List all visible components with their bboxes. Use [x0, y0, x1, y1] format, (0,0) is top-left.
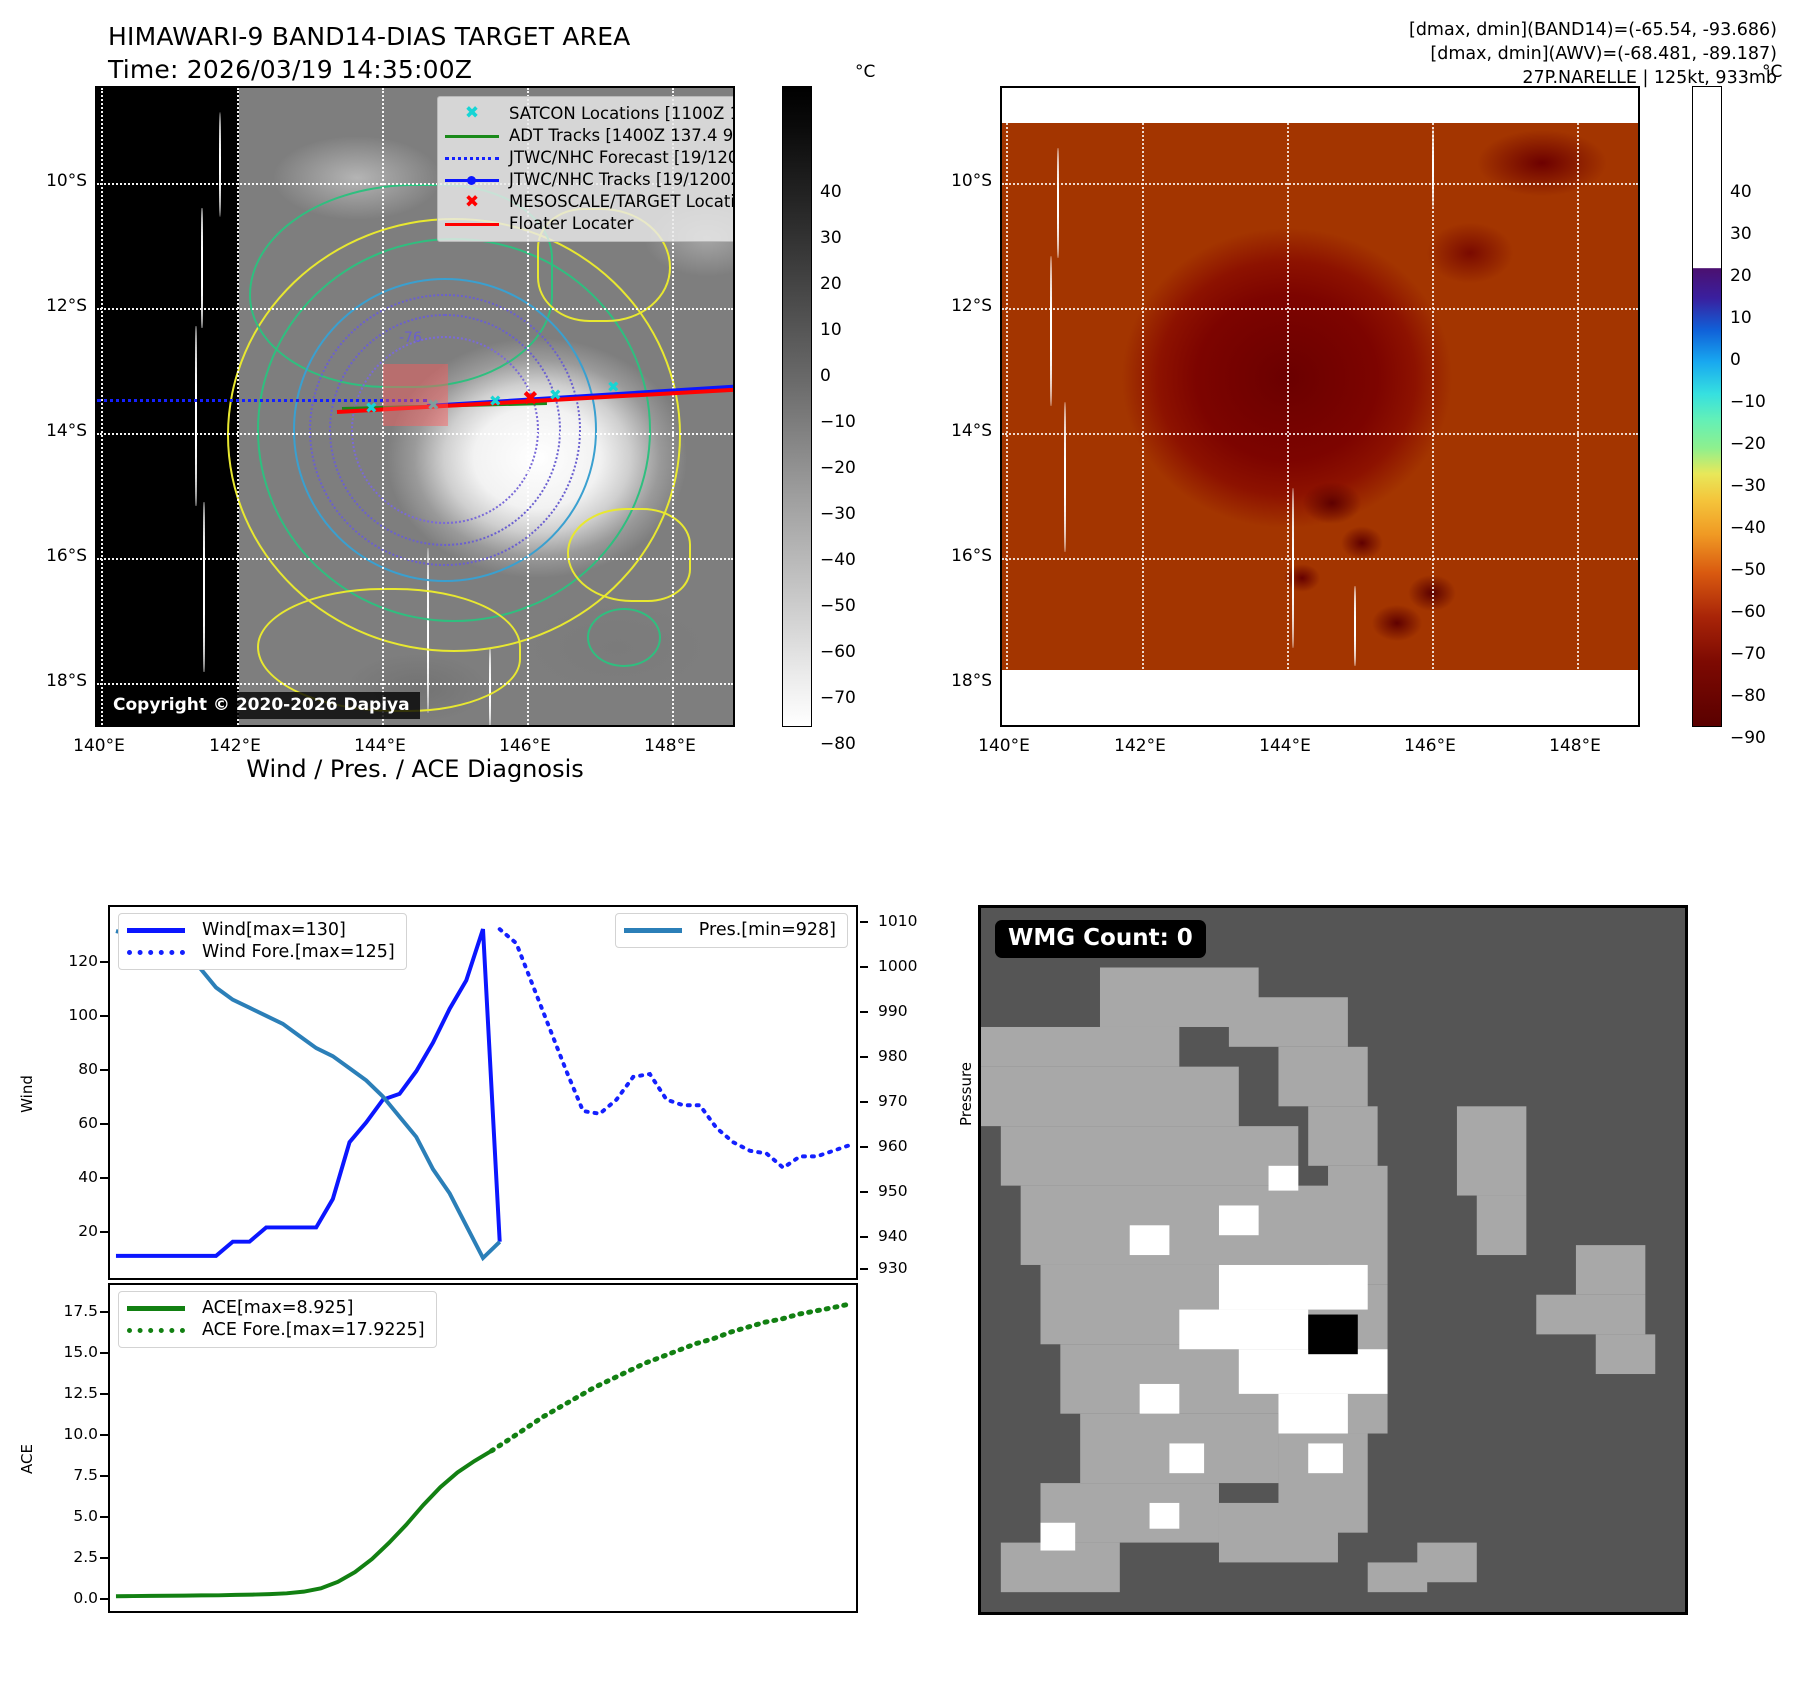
target-area-box	[383, 364, 448, 426]
pressure-tick: 950	[878, 1182, 908, 1200]
ir-imagery: -76 ✖ ✖ ✖ ✖ ✖ ✖	[97, 88, 733, 725]
wind-legend: Wind[max=130] Wind Fore.[max=125]	[118, 913, 407, 970]
awv-lat-tick: 12°S	[930, 296, 992, 316]
wind-tick: 80	[40, 1060, 98, 1078]
coastline	[195, 326, 197, 506]
legend-swatch-mesoscale: ✖	[445, 190, 509, 213]
cb-tick: 20	[1730, 266, 1752, 286]
pressure-tick: 940	[878, 1227, 908, 1245]
cb-tick: 0	[820, 366, 831, 386]
tick-mark	[860, 1011, 868, 1013]
pressure-tick: 930	[878, 1259, 908, 1277]
cb-tick: 10	[820, 320, 842, 340]
cb-tick: −40	[1730, 518, 1766, 538]
lon-gridline	[1577, 88, 1579, 725]
contour-ring	[587, 608, 661, 667]
legend-row: JTWC/NHC Forecast [19/1200Z]	[445, 147, 735, 169]
wind-tick: 20	[40, 1222, 98, 1240]
coastline	[1057, 148, 1059, 258]
tick-mark	[860, 1236, 868, 1238]
cb-tick: −10	[1730, 392, 1766, 412]
legend-swatch-wind-forecast	[127, 941, 202, 963]
lat-gridline	[97, 433, 733, 435]
legend-label: JTWC/NHC Tracks [19/1200Z]	[509, 168, 735, 190]
cb-tick: 40	[1730, 182, 1752, 202]
ir-lat-tick: 14°S	[25, 421, 87, 441]
tick-mark	[100, 1069, 108, 1071]
contour-value-label: -76	[399, 330, 422, 346]
cb-tick: −10	[820, 412, 856, 432]
wind-tick: 120	[40, 952, 98, 970]
page-title: HIMAWARI-9 BAND14-DIAS TARGET AREA Time:…	[108, 20, 631, 87]
pressure-tick: 990	[878, 1002, 908, 1020]
ace-chart[interactable]: ACE[max=8.925] ACE Fore.[max=17.9225]	[108, 1283, 858, 1613]
legend-row: ACE Fore.[max=17.9225]	[127, 1319, 425, 1341]
ace-tick: 7.5	[28, 1466, 98, 1484]
lon-gridline	[1142, 88, 1144, 725]
ace-tick: 12.5	[28, 1384, 98, 1402]
cb-tick: 30	[1730, 224, 1752, 244]
gray-colorbar-ticks: 40 30 20 10 0 −10 −20 −30 −40 −50 −60 −7…	[820, 86, 890, 727]
tick-mark	[860, 1268, 868, 1270]
legend-row: Floater Locater	[445, 213, 735, 235]
lon-gridline	[1006, 88, 1008, 725]
cb-tick: −60	[820, 642, 856, 662]
awv-lon-tick: 142°E	[1114, 736, 1166, 756]
satcon-location-marker: ✖	[607, 380, 620, 395]
legend-label: SATCON Locations [1100Z 143 920]	[509, 102, 735, 125]
lon-gridline	[101, 88, 103, 725]
color-colorbar-unit: °C	[1762, 62, 1782, 82]
ace-tick: 5.0	[28, 1507, 98, 1525]
tick-mark	[100, 1393, 108, 1395]
tick-mark	[100, 1434, 108, 1436]
wind-tick: 60	[40, 1114, 98, 1132]
legend-swatch-ace-forecast	[127, 1319, 202, 1341]
ace-tick: 17.5	[28, 1302, 98, 1320]
legend-label: Floater Locater	[509, 213, 735, 235]
tick-mark	[100, 961, 108, 963]
lat-gridline	[1002, 558, 1638, 560]
cb-tick: −80	[1730, 686, 1766, 706]
tick-mark	[860, 1146, 868, 1148]
cb-tick: −30	[1730, 476, 1766, 496]
legend-label: ADT Tracks [1400Z 137.4 921.1]	[509, 125, 735, 147]
gray-colorbar-unit: °C	[855, 62, 875, 82]
lat-gridline	[97, 308, 733, 310]
legend-row: ✖ MESOSCALE/TARGET Location	[445, 190, 735, 213]
lat-gridline	[1002, 308, 1638, 310]
tick-mark	[860, 1191, 868, 1193]
awv-lon-tick: 140°E	[978, 736, 1030, 756]
lat-gridline	[1002, 183, 1638, 185]
ir-map-legend: ✖ SATCON Locations [1100Z 143 920] ADT T…	[437, 96, 735, 242]
lon-gridline	[237, 88, 239, 725]
cb-tick: 30	[820, 228, 842, 248]
cb-tick: 20	[820, 274, 842, 294]
legend-swatch-floater	[445, 213, 509, 235]
ir-lat-tick: 18°S	[25, 671, 87, 691]
legend-swatch-ace	[127, 1297, 202, 1319]
ir-lat-tick: 10°S	[25, 171, 87, 191]
wind-observed-line	[116, 929, 500, 1256]
wind-tick: 100	[40, 1006, 98, 1024]
awv-lat-tick: 10°S	[930, 171, 992, 191]
awv-lon-tick: 144°E	[1259, 736, 1311, 756]
awv-lon-tick: 148°E	[1549, 736, 1601, 756]
ir-lat-tick: 16°S	[25, 546, 87, 566]
header-stats: [dmax, dmin](BAND14)=(-65.54, -93.686) […	[1409, 18, 1777, 90]
cb-tick: −70	[820, 688, 856, 708]
awv-bottom-margin	[1002, 670, 1638, 725]
tick-mark	[100, 1123, 108, 1125]
legend-row: Pres.[min=928]	[624, 919, 836, 941]
awv-lat-tick: 14°S	[930, 421, 992, 441]
tick-mark	[100, 1598, 108, 1600]
tick-mark	[100, 1475, 108, 1477]
cb-tick: −30	[820, 504, 856, 524]
legend-label: Pres.[min=928]	[699, 919, 836, 941]
color-colorbar-ticks: 40 30 20 10 0 −10 −20 −30 −40 −50 −60 −7…	[1730, 86, 1800, 727]
coastline	[203, 502, 205, 672]
tick-mark	[100, 1177, 108, 1179]
wind-pressure-chart[interactable]: Wind[max=130] Wind Fore.[max=125] Pres.[…	[108, 905, 858, 1280]
ace-tick: 0.0	[28, 1589, 98, 1607]
cb-tick: 40	[820, 182, 842, 202]
tick-mark	[860, 966, 868, 968]
awv-lon-tick: 146°E	[1404, 736, 1456, 756]
coastline	[219, 112, 221, 217]
pressure-tick: 970	[878, 1092, 908, 1110]
legend-label: JTWC/NHC Forecast [19/1200Z]	[509, 147, 735, 169]
ace-legend: ACE[max=8.925] ACE Fore.[max=17.9225]	[118, 1291, 437, 1348]
pressure-line	[116, 931, 500, 1258]
lon-gridline	[1432, 88, 1434, 725]
cb-tick: −50	[1730, 560, 1766, 580]
ace-tick: 15.0	[28, 1343, 98, 1361]
dashboard-root: HIMAWARI-9 BAND14-DIAS TARGET AREA Time:…	[0, 0, 1801, 1690]
legend-row: JTWC/NHC Tracks [19/1200Z]	[445, 168, 735, 190]
ir-lon-tick: 142°E	[209, 736, 261, 756]
cb-tick: −20	[820, 458, 856, 478]
legend-label: ACE[max=8.925]	[202, 1297, 425, 1319]
cb-tick: 10	[1730, 308, 1752, 328]
legend-row: ACE[max=8.925]	[127, 1297, 425, 1319]
cb-tick: 0	[1730, 350, 1741, 370]
satcon-location-marker: ✖	[549, 388, 562, 403]
gray-colorbar	[782, 86, 812, 727]
ir-lon-tick: 146°E	[499, 736, 551, 756]
coastline	[1354, 586, 1356, 666]
wind-forecast-line	[500, 929, 850, 1168]
awv-enhanced-map[interactable]	[1000, 86, 1640, 727]
legend-label: ACE Fore.[max=17.9225]	[202, 1319, 425, 1341]
legend-row: Wind Fore.[max=125]	[127, 941, 395, 963]
tick-mark	[100, 1557, 108, 1559]
awv-imagery	[1002, 123, 1638, 670]
legend-swatch-pressure	[624, 919, 699, 941]
ir-lon-tick: 144°E	[354, 736, 406, 756]
wind-axis-label: Wind	[18, 1075, 36, 1113]
ir-lat-tick: 12°S	[25, 296, 87, 316]
cb-tick: −60	[1730, 602, 1766, 622]
legend-row: ✖ SATCON Locations [1100Z 143 920]	[445, 102, 735, 125]
legend-swatch-jtwc-track	[445, 168, 509, 190]
pressure-tick: 1000	[878, 957, 917, 975]
legend-label: Wind Fore.[max=125]	[202, 941, 395, 963]
ace-observed-line	[116, 1451, 492, 1596]
legend-row: ADT Tracks [1400Z 137.4 921.1]	[445, 125, 735, 147]
coastline	[1050, 256, 1052, 406]
wmg-grid	[981, 908, 1685, 1612]
awv-lat-tick: 16°S	[930, 546, 992, 566]
ace-forecast-line	[492, 1304, 850, 1451]
legend-label: MESOSCALE/TARGET Location	[509, 190, 735, 213]
awv-top-margin	[1002, 88, 1638, 123]
legend-swatch-jtwc-forecast	[445, 147, 509, 169]
pressure-tick: 980	[878, 1047, 908, 1065]
stat-band14: [dmax, dmin](BAND14)=(-65.54, -93.686)	[1409, 18, 1777, 42]
tick-mark	[100, 1015, 108, 1017]
legend-swatch-wind	[127, 919, 202, 941]
wmg-count-badge: WMG Count: 0	[995, 920, 1206, 958]
ace-tick: 2.5	[28, 1548, 98, 1566]
title-line-1: HIMAWARI-9 BAND14-DIAS TARGET AREA	[108, 20, 631, 53]
ir-lon-tick: 140°E	[73, 736, 125, 756]
mesoscale-target-marker: ✖	[522, 388, 539, 408]
cb-tick: −80	[820, 734, 856, 754]
lat-gridline	[97, 683, 733, 685]
title-line-2: Time: 2026/03/19 14:35:00Z	[108, 53, 631, 86]
copyright-notice: Copyright © 2020-2026 Dapiya	[103, 692, 420, 719]
ir-target-map[interactable]: -76 ✖ ✖ ✖ ✖ ✖ ✖	[95, 86, 735, 727]
lon-gridline	[1287, 88, 1289, 725]
tick-mark	[860, 921, 868, 923]
wind-tick: 40	[40, 1168, 98, 1186]
awv-lat-tick: 18°S	[930, 671, 992, 691]
coastline	[1064, 402, 1066, 552]
cb-tick: −50	[820, 596, 856, 616]
diagnosis-title: Wind / Pres. / ACE Diagnosis	[246, 755, 584, 783]
coastline	[1292, 488, 1294, 648]
legend-row: Wind[max=130]	[127, 919, 395, 941]
pressure-legend: Pres.[min=928]	[615, 913, 848, 948]
stat-awv: [dmax, dmin](AWV)=(-68.481, -89.187)	[1409, 42, 1777, 66]
legend-swatch-satcon: ✖	[445, 102, 509, 125]
ace-tick: 10.0	[28, 1425, 98, 1443]
legend-label: Wind[max=130]	[202, 919, 395, 941]
tick-mark	[860, 1101, 868, 1103]
lat-gridline	[1002, 433, 1638, 435]
satcon-location-marker: ✖	[489, 394, 502, 409]
tick-mark	[100, 1516, 108, 1518]
pressure-tick: 960	[878, 1137, 908, 1155]
tick-mark	[860, 1056, 868, 1058]
color-colorbar	[1692, 86, 1722, 727]
legend-swatch-adt	[445, 125, 509, 147]
satcon-location-marker: ✖	[365, 401, 378, 416]
lat-gridline	[1002, 683, 1638, 685]
coastline	[201, 208, 203, 328]
pressure-axis-label: Pressure	[957, 1062, 975, 1126]
cb-tick: −20	[1730, 434, 1766, 454]
lat-gridline	[97, 558, 733, 560]
wmg-panel[interactable]: WMG Count: 0	[978, 905, 1688, 1615]
tick-mark	[100, 1352, 108, 1354]
ir-lon-tick: 148°E	[644, 736, 696, 756]
cb-tick: −40	[820, 550, 856, 570]
cb-tick: −70	[1730, 644, 1766, 664]
tick-mark	[100, 1311, 108, 1313]
tick-mark	[100, 1231, 108, 1233]
cb-tick: −90	[1730, 728, 1766, 748]
pressure-tick: 1010	[878, 912, 917, 930]
